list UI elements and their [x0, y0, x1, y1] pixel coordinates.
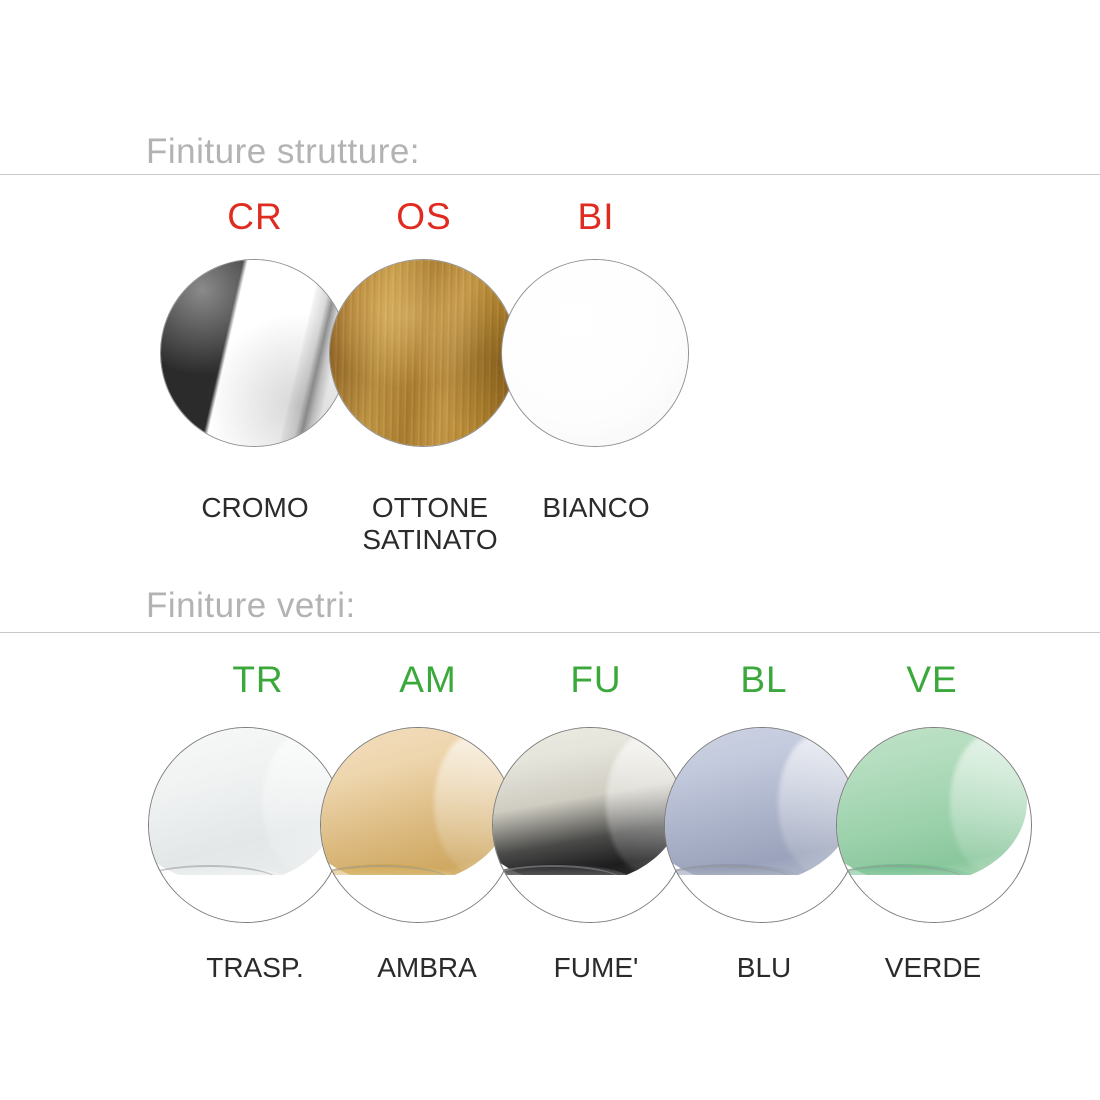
swatch-blu[interactable] — [664, 727, 860, 923]
cromo-shade-layer — [161, 260, 347, 446]
bianco-base-layer — [502, 260, 688, 446]
swatch-ambra[interactable] — [320, 727, 516, 923]
glass-base-shadow-am — [320, 875, 516, 923]
swatch-fume[interactable] — [492, 727, 688, 923]
glass-base-shadow-tr — [148, 875, 344, 923]
caption-trasp: TRASP. — [206, 952, 304, 984]
code-ve: VE — [906, 659, 957, 701]
finish-legend-page: Finiture strutture: CR OS BI CROMO OTTON… — [0, 0, 1100, 1100]
code-am: AM — [399, 659, 457, 701]
caption-fume: FUME' — [554, 952, 639, 984]
section-title-vetri: Finiture vetri: — [146, 586, 356, 626]
section-divider-vetri — [0, 632, 1100, 633]
caption-blu: BLU — [737, 952, 791, 984]
section-title-strutture: Finiture strutture: — [146, 132, 420, 172]
code-bl: BL — [740, 659, 787, 701]
code-os: OS — [396, 196, 451, 238]
glass-base-shadow-bl — [664, 875, 860, 923]
swatch-verde[interactable] — [836, 727, 1032, 923]
swatch-bianco[interactable] — [501, 259, 689, 447]
caption-ottone: OTTONE SATINATO — [362, 492, 497, 557]
code-cr: CR — [227, 196, 282, 238]
code-tr: TR — [232, 659, 283, 701]
code-bi: BI — [578, 196, 615, 238]
swatch-trasparente[interactable] — [148, 727, 344, 923]
glass-base-shadow-ve — [836, 875, 1032, 923]
caption-ambra: AMBRA — [377, 952, 477, 984]
swatch-cromo[interactable] — [160, 259, 348, 447]
caption-cromo: CROMO — [201, 492, 308, 524]
section-divider-strutture — [0, 174, 1100, 175]
glass-base-shadow-fu — [492, 875, 688, 923]
ottone-shade-layer — [330, 260, 516, 446]
code-fu: FU — [570, 659, 621, 701]
caption-bianco: BIANCO — [542, 492, 649, 524]
caption-verde: VERDE — [885, 952, 981, 984]
swatch-ottone-satinato[interactable] — [329, 259, 517, 447]
